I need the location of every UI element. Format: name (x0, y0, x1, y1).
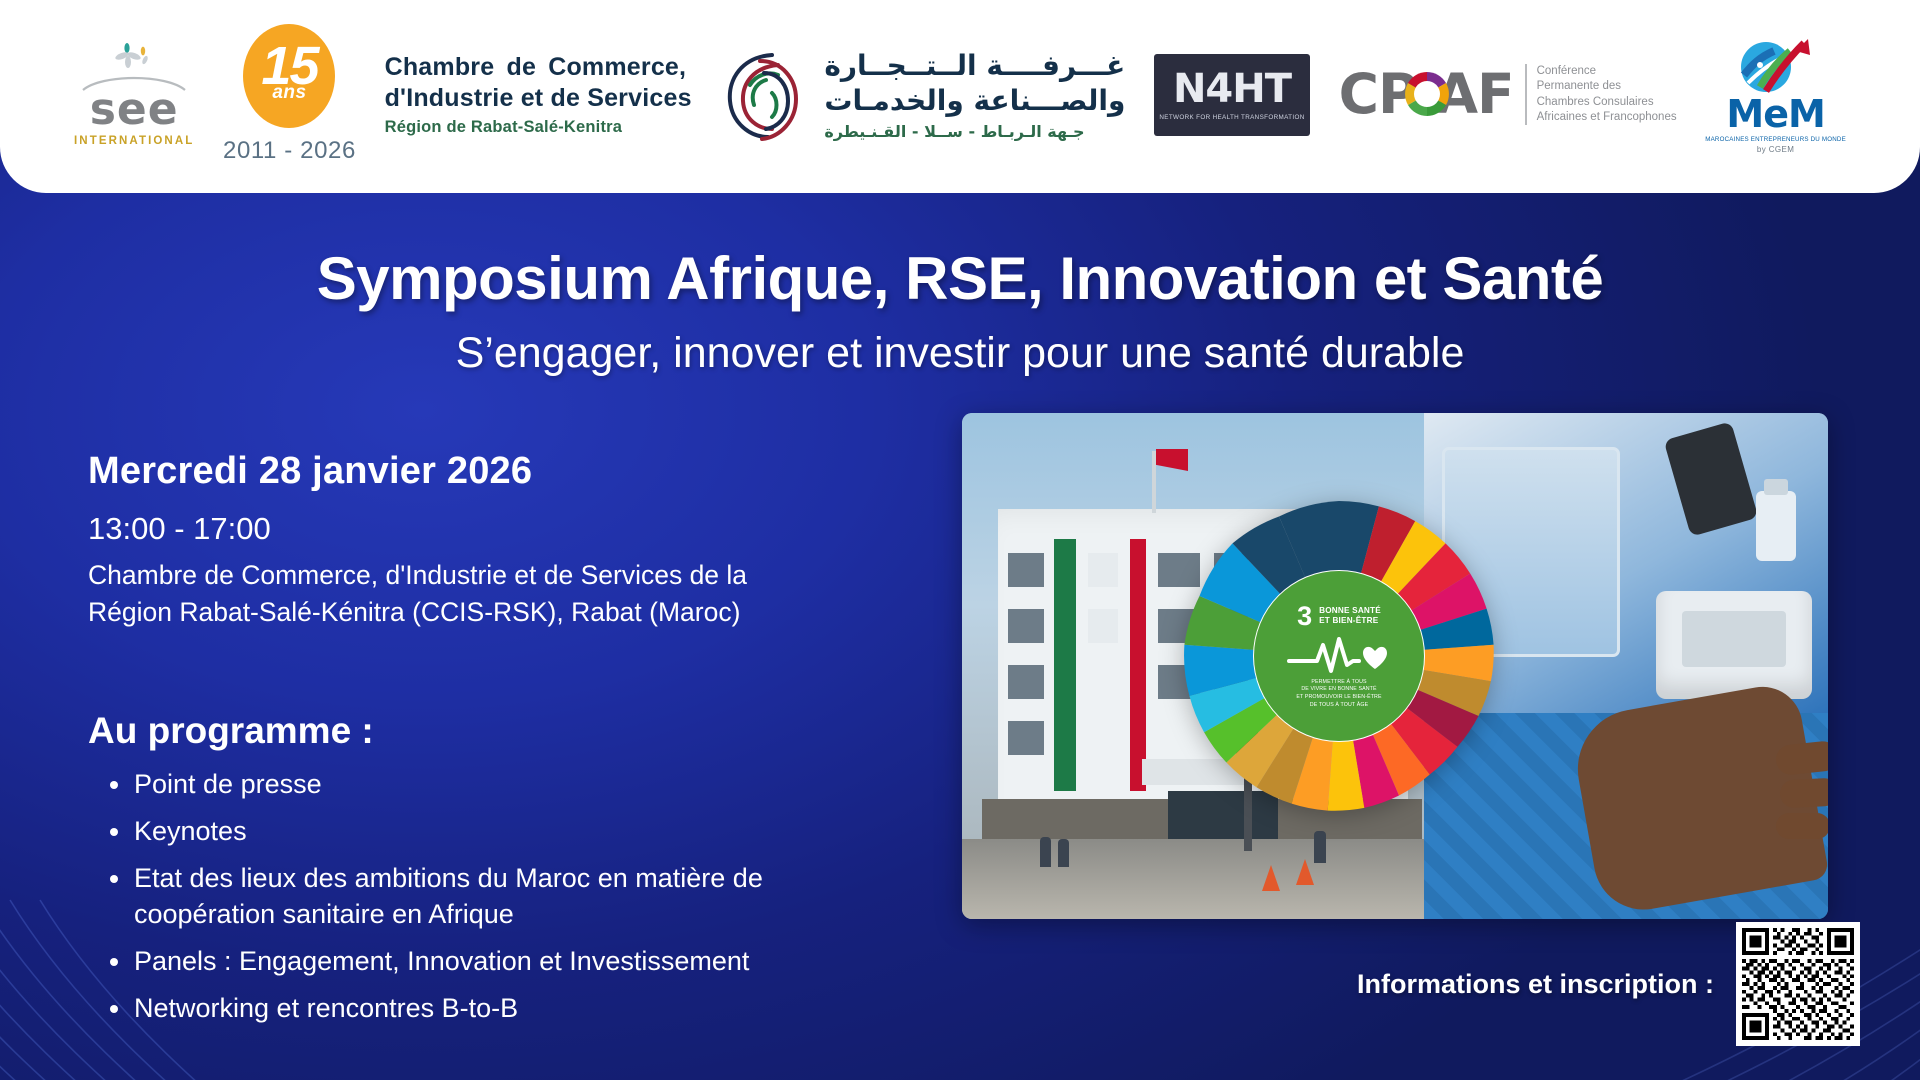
sdg-label-line1: BONNE SANTÉ (1319, 606, 1381, 615)
ccis-arabic-line3: جـهة الـربـاط - ســلا - القـنـيطرة (824, 122, 1084, 141)
program-list: Point de presse Keynotes Etat des lieux … (88, 766, 908, 1026)
program-heading: Au programme : (88, 710, 908, 752)
logo-ccis-text: Chambre de Commerce, d'Industrie et de S… (385, 52, 692, 137)
see-subtitle: INTERNATIONAL (74, 135, 194, 147)
sdg-description: PERMETTRE À TOUS DE VIVRE EN BONNE SANTÉ… (1296, 679, 1381, 710)
logo-mem: MeM MAROCAINES ENTREPRENEURS DU MONDE by… (1705, 35, 1846, 154)
mem-wordmark: MeM (1726, 95, 1824, 133)
registration-label: Informations et inscription : (1357, 969, 1714, 1000)
see-wordmark: see (90, 88, 179, 132)
sdg-label-line2: ET BIEN-ÊTRE (1319, 616, 1378, 625)
sdg-desc-line4: DE TOUS À TOUT ÂGE (1296, 702, 1381, 710)
event-date: Mercredi 28 janvier 2026 (88, 450, 908, 493)
cpcaf-sub-line3: Chambres Consulaires (1537, 95, 1677, 110)
headline-block: Symposium Afrique, RSE, Innovation et Sa… (0, 244, 1920, 378)
heartbeat-icon (1287, 635, 1391, 675)
qr-code-image (1742, 928, 1854, 1040)
logo-ccis-mark: غـــرفــــة الــتــجــارة والصـــناعة وا… (720, 43, 1125, 147)
cpcaf-subtitle: Conférence Permanente des Chambres Consu… (1525, 64, 1677, 126)
logo-see-international: see INTERNATIONAL (74, 42, 194, 147)
event-time: 13:00 - 17:00 (88, 511, 908, 547)
sponsor-logo-bar: see INTERNATIONAL 15 ans 2011 - 2026 Cha… (0, 0, 1920, 193)
globe-arrow-icon (1734, 35, 1818, 97)
ccis-spiral-icon (720, 43, 808, 147)
program-item: Keynotes (88, 813, 878, 850)
event-venue: Chambre de Commerce, d'Industrie et de S… (88, 557, 878, 630)
anniversary-unit: ans (272, 82, 306, 104)
ccis-line2: d'Industrie et de Services (385, 83, 692, 114)
program-item: Networking et rencontres B-to-B (88, 990, 878, 1027)
event-info-column: Mercredi 28 janvier 2026 13:00 - 17:00 C… (88, 450, 908, 1036)
sdg-label: BONNE SANTÉ ET BIEN-ÊTRE (1319, 606, 1381, 626)
logo-anniversary-15ans: 15 ans 2011 - 2026 (223, 24, 356, 165)
sdg-desc-line2: DE VIVRE EN BONNE SANTÉ (1296, 686, 1381, 694)
anniversary-years: 2011 - 2026 (223, 137, 356, 165)
logo-n4ht: N4HT NETWORK FOR HEALTH TRANSFORMATION (1154, 54, 1310, 136)
ccis-line1: Chambre de Commerce, (385, 52, 687, 83)
n4ht-wordmark: N4HT (1173, 69, 1291, 109)
sdg-desc-line3: ET PROMOUVOIR LE BIEN-ÊTRE (1296, 694, 1381, 702)
cpcaf-sub-line2: Permanente des (1537, 79, 1677, 94)
mem-by-line: by CGEM (1757, 145, 1794, 154)
ccis-arabic-block: غـــرفــــة الــتــجــارة والصـــناعة وا… (824, 48, 1125, 142)
event-poster: see INTERNATIONAL 15 ans 2011 - 2026 Cha… (0, 0, 1920, 1080)
qr-code[interactable] (1736, 922, 1860, 1046)
n4ht-subtitle: NETWORK FOR HEALTH TRANSFORMATION (1159, 114, 1304, 121)
registration-block: Informations et inscription : (1357, 922, 1860, 1046)
sdg-number: 3 (1297, 603, 1312, 630)
program-item: Etat des lieux des ambitions du Maroc en… (88, 860, 878, 933)
cpcaf-sub-line4: Africaines et Francophones (1537, 110, 1677, 125)
cpcaf-sub-line1: Conférence (1537, 64, 1677, 79)
anniversary-badge: 15 ans (243, 24, 335, 128)
ccis-line3: Région de Rabat-Salé-Kenitra (385, 118, 623, 137)
spark-icon (103, 42, 165, 72)
venue-line1: Chambre de Commerce, d'Industrie et de S… (88, 557, 878, 594)
ccis-arabic-line2: والصـــناعة والخدمـات (824, 83, 1125, 118)
program-item: Panels : Engagement, Innovation et Inves… (88, 943, 878, 980)
sdg-3-hub: 3 BONNE SANTÉ ET BIEN-ÊTRE PERMETTRE À T… (1254, 571, 1424, 741)
program-item: Point de presse (88, 766, 878, 803)
logo-cpcaf: CP AF Conférence Permanente des (1339, 64, 1677, 126)
flag-icon (1156, 449, 1188, 471)
sdg-wheel-graphic: 3 BONNE SANTÉ ET BIEN-ÊTRE PERMETTRE À T… (1180, 497, 1498, 815)
page-subtitle: S’engager, innover et investir pour une … (0, 329, 1920, 378)
event-photo-collage: 3 BONNE SANTÉ ET BIEN-ÊTRE PERMETTRE À T… (962, 413, 1828, 919)
venue-line2: Région Rabat-Salé-Kénitra (CCIS-RSK), Ra… (88, 594, 878, 631)
cpcaf-color-wheel-icon (1402, 69, 1452, 119)
mem-subtitle: MAROCAINES ENTREPRENEURS DU MONDE (1705, 136, 1846, 143)
page-title: Symposium Afrique, RSE, Innovation et Sa… (0, 244, 1920, 313)
ccis-arabic-line1: غـــرفــــة الــتــجــارة (824, 48, 1125, 83)
